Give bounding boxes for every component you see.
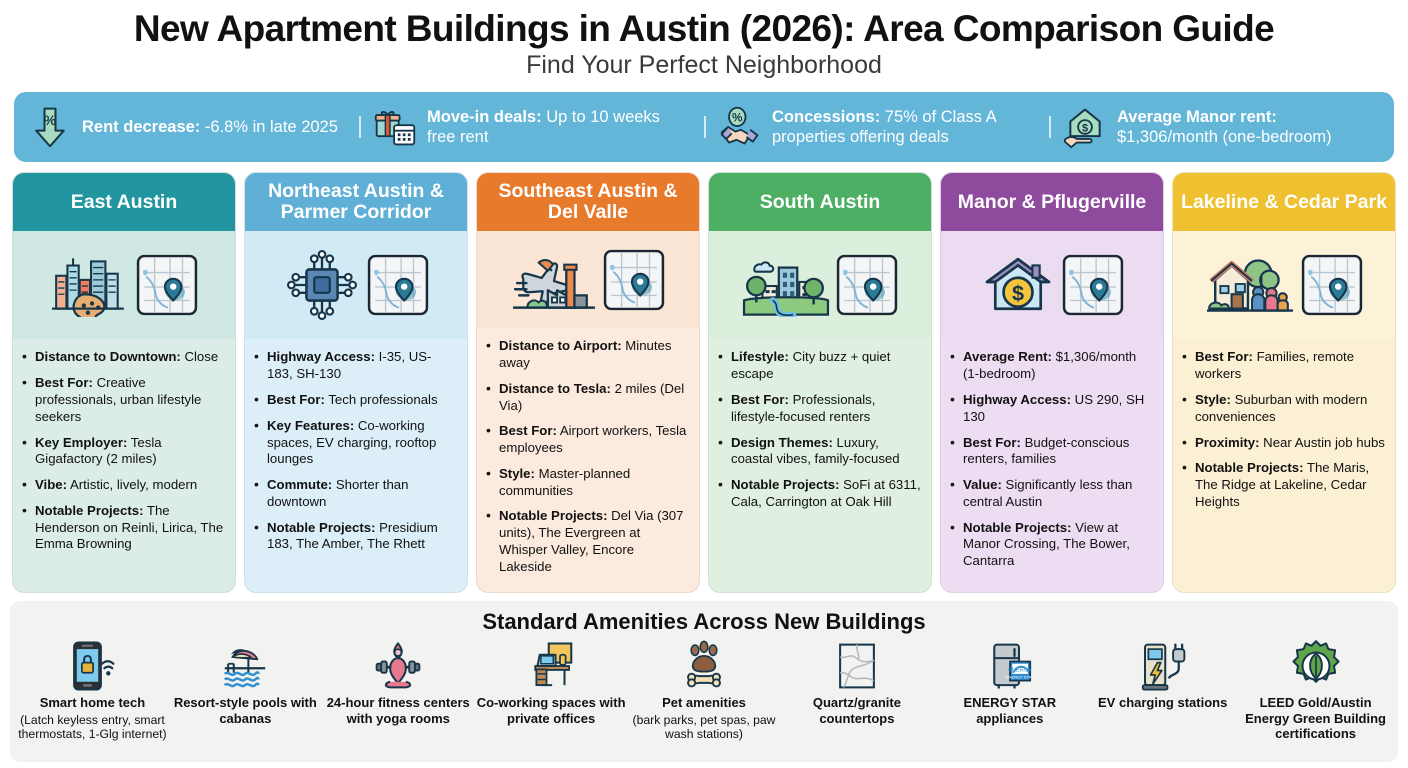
bullet-label: Proximity: [1195, 435, 1260, 450]
area-card-artwork [477, 231, 699, 328]
amenity-note: (Latch keyless entry, smart thermostats,… [16, 713, 169, 741]
amenity-item: Quartz/granite countertops [780, 639, 933, 725]
area-card-header: Lakeline & Cedar Park [1173, 173, 1395, 231]
bullet-label: Best For: [35, 375, 93, 390]
area-card[interactable]: Southeast Austin & Del ValleDistance to … [476, 172, 700, 593]
stat-item: %Rent decrease: -6.8% in late 2025 [14, 105, 359, 149]
title-block: New Apartment Buildings in Austin (2026)… [0, 0, 1408, 82]
amenities-row: Smart home tech(Latch keyless entry, sma… [16, 639, 1392, 758]
pool-umbrella-icon [218, 639, 272, 693]
stat-item: Move-in deals: Up to 10 weeks free rent [359, 105, 704, 149]
area-card-header: Southeast Austin & Del Valle [477, 173, 699, 231]
stat-item: $Average Manor rent: $1,306/month (one-b… [1049, 105, 1394, 149]
area-bullet-list: Distance to Airport: Minutes awayDistanc… [485, 338, 689, 575]
bullet-label: Key Employer: [35, 435, 127, 450]
house-dollar-icon: $ [980, 253, 1056, 317]
bullet-label: Notable Projects: [35, 503, 143, 518]
area-bullet: Key Features: Co-working spaces, EV char… [253, 418, 457, 468]
page-title: New Apartment Buildings in Austin (2026)… [0, 8, 1408, 49]
area-bullet: Notable Projects: SoFi at 6311, Cala, Ca… [717, 477, 921, 511]
area-card-artwork [709, 231, 931, 339]
area-bullet-list: Lifestyle: City buzz + quiet escapeBest … [717, 349, 921, 510]
stat-item: %Concessions: 75% of Class A properties … [704, 105, 1049, 149]
area-card-title: Lakeline & Cedar Park [1181, 192, 1387, 214]
infographic-page: New Apartment Buildings in Austin (2026)… [0, 0, 1408, 768]
amenity-label: Resort-style pools with cabanas [169, 695, 322, 725]
bullet-label: Best For: [499, 423, 557, 438]
bullet-label: Best For: [267, 392, 325, 407]
area-card-header: East Austin [13, 173, 235, 231]
city-skyline-palette-icon [50, 253, 130, 317]
yoga-dumbbell-icon [371, 639, 425, 693]
paw-bone-icon [677, 639, 731, 693]
area-bullet: Style: Suburban with modern conveniences [1181, 392, 1385, 426]
area-card-title: South Austin [760, 192, 881, 214]
bullet-label: Highway Access: [963, 392, 1071, 407]
area-bullet: Proximity: Near Austin job hubs [1181, 435, 1385, 452]
bullet-label: Lifestyle: [731, 349, 789, 364]
area-card-title: Southeast Austin & Del Valle [485, 181, 691, 225]
gift-calendar-icon [373, 105, 417, 149]
area-bullet: Notable Projects: View at Manor Crossing… [949, 520, 1153, 570]
house-family-tree-icon [1205, 253, 1295, 317]
amenity-item: Resort-style pools with cabanas [169, 639, 322, 725]
countertop-slab-icon [830, 639, 884, 693]
amenity-label: Quartz/granite countertops [780, 695, 933, 725]
area-bullet: Design Themes: Luxury, coastal vibes, fa… [717, 435, 921, 469]
refrigerator-energy-star-icon: ENERGYENERGY STAR [983, 639, 1037, 693]
svg-text:%: % [732, 111, 743, 125]
area-card-body: Distance to Downtown: CloseBest For: Cre… [13, 339, 235, 592]
amenity-label: EV charging stations [1098, 695, 1227, 710]
map-pin-icon [836, 254, 898, 316]
area-card-body: Highway Access: I-35, US-183, SH-130Best… [245, 339, 467, 592]
area-card-title: East Austin [71, 192, 178, 214]
smartphone-lock-wifi-icon [65, 639, 119, 693]
bullet-label: Notable Projects: [267, 520, 375, 535]
map-pin-icon [1301, 254, 1363, 316]
leaf-gear-icon [1289, 639, 1343, 693]
amenity-label: Co-working spaces with private offices [475, 695, 628, 725]
stat-text: Concessions: 75% of Class A properties o… [772, 107, 1035, 148]
svg-text:ENERGY: ENERGY [1008, 668, 1032, 674]
page-subtitle: Find Your Perfect Neighborhood [0, 50, 1408, 80]
area-card[interactable]: South AustinLifestyle: City buzz + quiet… [708, 172, 932, 593]
airplane-factory-icon [511, 248, 597, 312]
amenity-label: 24-hour fitness centers with yoga rooms [322, 695, 475, 725]
area-bullet: Notable Projects: Presidium 183, The Amb… [253, 520, 457, 554]
amenity-item: Pet amenities(bark parks, pet spas, paw … [628, 639, 781, 740]
amenities-section: Standard Amenities Across New Buildings … [10, 601, 1398, 762]
house-money-hand-icon: $ [1063, 105, 1107, 149]
microchip-icon [283, 250, 361, 320]
park-buildings-river-icon [742, 253, 830, 317]
amenity-item: LEED Gold/Austin Energy Green Building c… [1239, 639, 1392, 740]
area-card-header: Northeast Austin & Parmer Corridor [245, 173, 467, 231]
bullet-label: Best For: [963, 435, 1021, 450]
stat-text: Average Manor rent: $1,306/month (one-be… [1117, 107, 1380, 148]
area-card-artwork [13, 231, 235, 339]
bullet-text: Tech professionals [328, 392, 437, 407]
area-bullet: Best For: Airport workers, Tesla employe… [485, 423, 689, 457]
bullet-text: Artistic, lively, modern [70, 477, 197, 492]
area-bullet-list: Highway Access: I-35, US-183, SH-130Best… [253, 349, 457, 553]
area-card-artwork [245, 231, 467, 339]
area-card-artwork [1173, 231, 1395, 339]
area-bullet: Commute: Shorter than downtown [253, 477, 457, 511]
bullet-text: Near Austin job hubs [1263, 435, 1385, 450]
amenity-label: Pet amenities [662, 695, 746, 710]
area-card[interactable]: East AustinDistance to Downtown: CloseBe… [12, 172, 236, 593]
area-bullet-list: Average Rent: $1,306/month (1-bedroom)Hi… [949, 349, 1153, 569]
svg-text:$: $ [1012, 281, 1024, 306]
amenities-title: Standard Amenities Across New Buildings [16, 607, 1392, 639]
stat-value: -6.8% in late 2025 [205, 118, 338, 136]
bullet-label: Value: [963, 477, 1002, 492]
map-pin-icon [367, 254, 429, 316]
area-bullet: Best For: Professionals, lifestyle-focus… [717, 392, 921, 426]
area-card[interactable]: Lakeline & Cedar ParkBest For: Families,… [1172, 172, 1396, 593]
amenity-item: Co-working spaces with private offices [475, 639, 628, 725]
stat-text: Move-in deals: Up to 10 weeks free rent [427, 107, 690, 148]
bullet-label: Distance to Downtown: [35, 349, 181, 364]
bullet-label: Notable Projects: [963, 520, 1071, 535]
area-card-artwork: $ [941, 231, 1163, 339]
area-card[interactable]: Manor & Pflugerville$Average Rent: $1,30… [940, 172, 1164, 593]
area-bullet: Key Employer: Tesla Gigafactory (2 miles… [21, 435, 225, 469]
map-pin-icon [1062, 254, 1124, 316]
area-bullet: Style: Master-planned communities [485, 466, 689, 500]
area-bullet: Highway Access: US 290, SH 130 [949, 392, 1153, 426]
area-bullet: Lifestyle: City buzz + quiet escape [717, 349, 921, 383]
bullet-label: Distance to Tesla: [499, 381, 611, 396]
bullet-label: Commute: [267, 477, 332, 492]
percent-down-arrow-icon: % [28, 105, 72, 149]
area-card-body: Average Rent: $1,306/month (1-bedroom)Hi… [941, 339, 1163, 592]
bullet-label: Style: [499, 466, 535, 481]
bullet-label: Distance to Airport: [499, 338, 622, 353]
svg-text:%: % [44, 114, 56, 129]
bullet-label: Notable Projects: [1195, 460, 1303, 475]
area-card-title: Manor & Pflugerville [958, 192, 1147, 214]
stat-label: Move-in deals: [427, 108, 542, 126]
amenity-item: EV charging stations [1086, 639, 1239, 710]
area-bullet: Average Rent: $1,306/month (1-bedroom) [949, 349, 1153, 383]
area-card-title: Northeast Austin & Parmer Corridor [253, 181, 459, 225]
area-bullet: Highway Access: I-35, US-183, SH-130 [253, 349, 457, 383]
area-card-header: Manor & Pflugerville [941, 173, 1163, 231]
area-cards-row: East AustinDistance to Downtown: CloseBe… [12, 172, 1396, 593]
bullet-label: Average Rent: [963, 349, 1052, 364]
stat-text: Rent decrease: -6.8% in late 2025 [82, 117, 338, 138]
amenity-item: Smart home tech(Latch keyless entry, sma… [16, 639, 169, 740]
map-pin-icon [603, 249, 665, 311]
stats-banner: %Rent decrease: -6.8% in late 2025Move-i… [14, 92, 1394, 162]
bullet-text: Close [184, 349, 218, 364]
bullet-label: Highway Access: [267, 349, 375, 364]
bullet-label: Vibe: [35, 477, 67, 492]
ev-charger-icon [1136, 639, 1190, 693]
bullet-label: Best For: [1195, 349, 1253, 364]
area-card-header: South Austin [709, 173, 931, 231]
amenity-note: (bark parks, pet spas, paw wash stations… [628, 713, 781, 741]
stat-label: Rent decrease: [82, 118, 200, 136]
area-bullet: Notable Projects: Del Via (307 units), T… [485, 508, 689, 575]
amenity-label: ENERGY STAR appliances [933, 695, 1086, 725]
area-bullet: Best For: Budget-conscious renters, fami… [949, 435, 1153, 469]
area-card-body: Distance to Airport: Minutes awayDistanc… [477, 328, 699, 592]
area-bullet: Value: Significantly less than central A… [949, 477, 1153, 511]
bullet-label: Notable Projects: [731, 477, 839, 492]
area-card-body: Lifestyle: City buzz + quiet escapeBest … [709, 339, 931, 592]
bullet-label: Style: [1195, 392, 1231, 407]
area-bullet: Best For: Families, remote workers [1181, 349, 1385, 383]
amenity-item: 24-hour fitness centers with yoga rooms [322, 639, 475, 725]
area-card[interactable]: Northeast Austin & Parmer CorridorHighwa… [244, 172, 468, 593]
bullet-label: Key Features: [267, 418, 354, 433]
area-bullet: Notable Projects: The Maris, The Ridge a… [1181, 460, 1385, 510]
area-card-body: Best For: Families, remote workersStyle:… [1173, 339, 1395, 592]
bullet-label: Best For: [731, 392, 789, 407]
map-pin-icon [136, 254, 198, 316]
area-bullet: Best For: Creative professionals, urban … [21, 375, 225, 425]
area-bullet: Distance to Airport: Minutes away [485, 338, 689, 372]
area-bullet: Distance to Tesla: 2 miles (Del Via) [485, 381, 689, 415]
area-bullet: Best For: Tech professionals [253, 392, 457, 409]
svg-text:$: $ [1082, 123, 1088, 135]
area-bullet: Vibe: Artistic, lively, modern [21, 477, 225, 494]
handshake-percent-icon: % [718, 105, 762, 149]
area-bullet-list: Best For: Families, remote workersStyle:… [1181, 349, 1385, 510]
bullet-label: Notable Projects: [499, 508, 607, 523]
stat-label: Concessions: [772, 108, 880, 126]
stat-label: Average Manor rent: [1117, 108, 1277, 126]
desk-laptop-icon [524, 639, 578, 693]
bullet-label: Design Themes: [731, 435, 833, 450]
area-bullet-list: Distance to Downtown: CloseBest For: Cre… [21, 349, 225, 553]
amenity-label: Smart home tech [40, 695, 145, 710]
amenity-label: LEED Gold/Austin Energy Green Building c… [1239, 695, 1392, 740]
stat-value: $1,306/month (one-bedroom) [1117, 128, 1332, 146]
area-bullet: Distance to Downtown: Close [21, 349, 225, 366]
area-bullet: Notable Projects: The Henderson on Reinl… [21, 503, 225, 553]
amenity-item: ENERGYENERGY STARENERGY STAR appliances [933, 639, 1086, 725]
svg-text:ENERGY STAR: ENERGY STAR [1006, 675, 1035, 680]
